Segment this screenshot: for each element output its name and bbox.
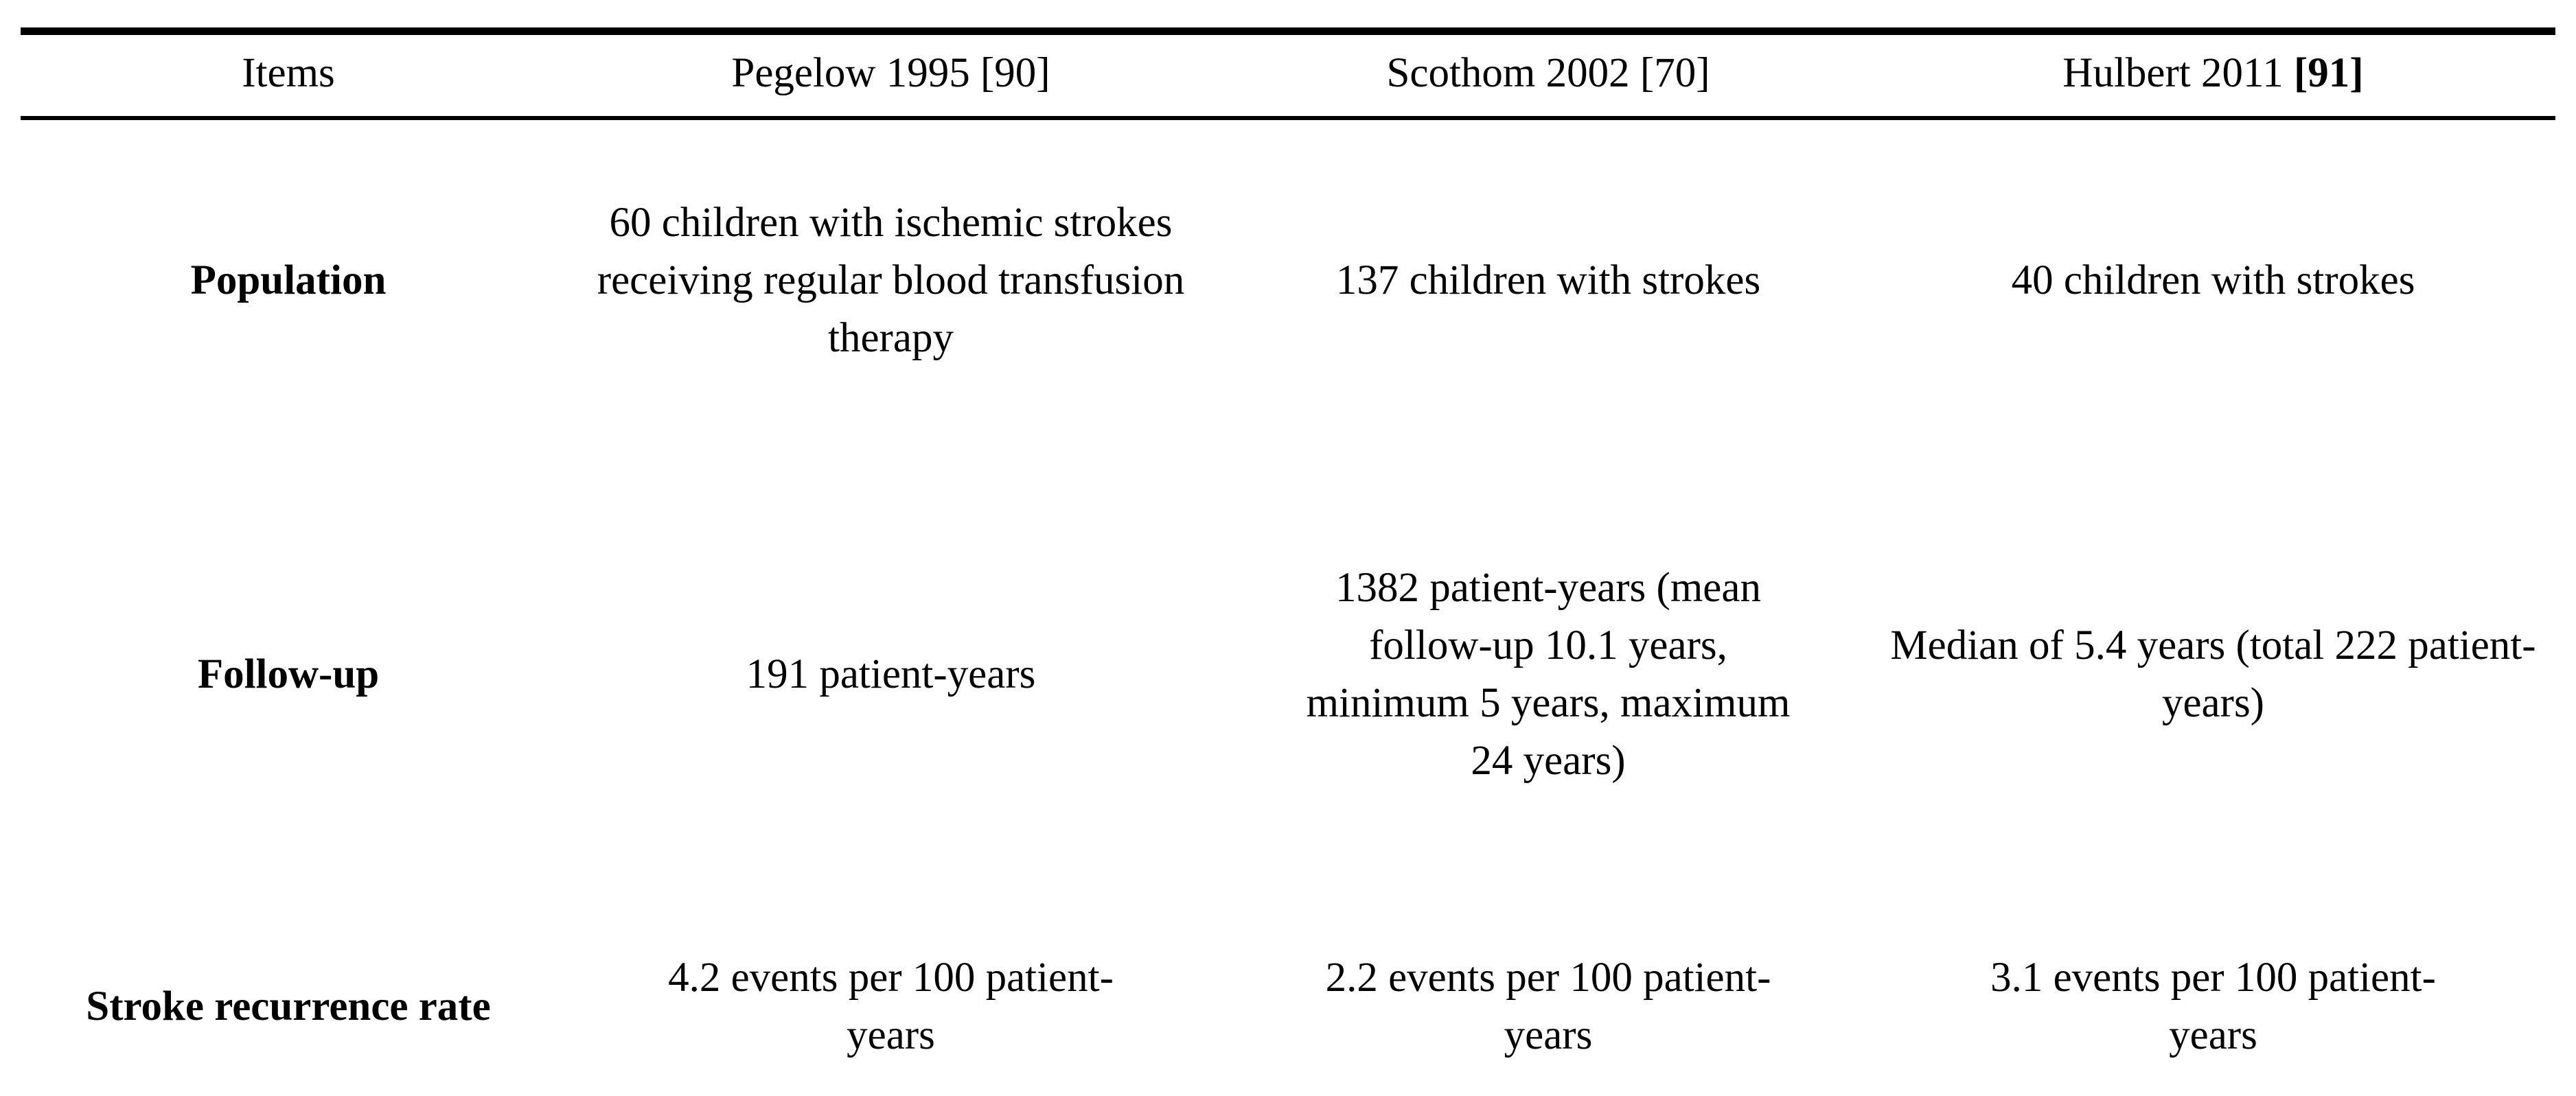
study-comparison-table: Items Pegelow 1995 [90] Scothom 2002 [70… (21, 27, 2555, 1096)
cell-follow-up-pegelow: 191 patient-years (556, 441, 1226, 908)
column-header-hulbert-label: Hulbert 2011 [91] (1875, 49, 2551, 98)
row-label-population: Population (21, 118, 556, 441)
cell-population-hulbert-text: 40 children with strokes (1884, 252, 2543, 310)
cell-population-scotham-text: 137 children with strokes (1329, 252, 1768, 310)
cell-stroke-recurrence-rate-pegelow: 4.2 events per 100 patient-years (556, 908, 1226, 1096)
column-header-hulbert-study: Hulbert 2011 (2062, 50, 2294, 96)
cell-population-pegelow: 60 children with ischemic strokes receiv… (556, 118, 1226, 441)
cell-follow-up-scotham-text: 1382 patient-years (mean follow-up 10.1 … (1294, 559, 1802, 791)
table-head: Items Pegelow 1995 [90] Scothom 2002 [70… (21, 32, 2555, 118)
cell-follow-up-scotham: 1382 patient-years (mean follow-up 10.1 … (1226, 441, 1871, 908)
document-page: Items Pegelow 1995 [90] Scothom 2002 [70… (0, 0, 2576, 1096)
column-header-items-label: Items (25, 49, 552, 98)
cell-stroke-recurrence-rate-hulbert: 3.1 events per 100 patient-years (1871, 908, 2555, 1096)
cell-follow-up-pegelow-text: 191 patient-years (589, 646, 1193, 703)
row-label-follow-up-text: Follow-up (27, 646, 549, 703)
cell-stroke-recurrence-rate-scotham-text: 2.2 events per 100 patient-years (1311, 949, 1785, 1064)
row-label-stroke-recurrence-rate: Stroke recurrence rate (21, 908, 556, 1096)
column-header-pegelow-label: Pegelow 1995 [90] (560, 49, 1221, 98)
table-header-row: Items Pegelow 1995 [90] Scothom 2002 [70… (21, 32, 2555, 118)
table-row: Population 60 children with ischemic str… (21, 118, 2555, 441)
table-row: Follow-up 191 patient-years 1382 patient… (21, 441, 2555, 908)
cell-population-pegelow-text: 60 children with ischemic strokes receiv… (589, 194, 1193, 368)
column-header-hulbert-reference: [91] (2294, 50, 2364, 96)
column-header-hulbert: Hulbert 2011 [91] (1871, 32, 2555, 118)
column-header-scotham: Scothom 2002 [70] (1226, 32, 1871, 118)
row-label-population-text: Population (27, 252, 549, 310)
row-label-stroke-recurrence-rate-text: Stroke recurrence rate (69, 978, 508, 1036)
cell-follow-up-hulbert: Median of 5.4 years (total 222 patient-y… (1871, 441, 2555, 908)
cell-follow-up-hulbert-text: Median of 5.4 years (total 222 patient-y… (1884, 617, 2543, 732)
column-header-scotham-label: Scothom 2002 [70] (1230, 49, 1867, 98)
table-row: Stroke recurrence rate 4.2 events per 10… (21, 908, 2555, 1096)
column-header-pegelow: Pegelow 1995 [90] (556, 32, 1226, 118)
cell-stroke-recurrence-rate-hulbert-text: 3.1 events per 100 patient-years (1977, 949, 2450, 1064)
cell-population-scotham: 137 children with strokes (1226, 118, 1871, 441)
column-header-items: Items (21, 32, 556, 118)
cell-stroke-recurrence-rate-pegelow-text: 4.2 events per 100 patient-years (654, 949, 1128, 1064)
table-body: Population 60 children with ischemic str… (21, 118, 2555, 1096)
cell-stroke-recurrence-rate-scotham: 2.2 events per 100 patient-years (1226, 908, 1871, 1096)
row-label-follow-up: Follow-up (21, 441, 556, 908)
study-comparison-table-wrapper: Items Pegelow 1995 [90] Scothom 2002 [70… (21, 27, 2555, 1096)
cell-population-hulbert: 40 children with strokes (1871, 118, 2555, 441)
